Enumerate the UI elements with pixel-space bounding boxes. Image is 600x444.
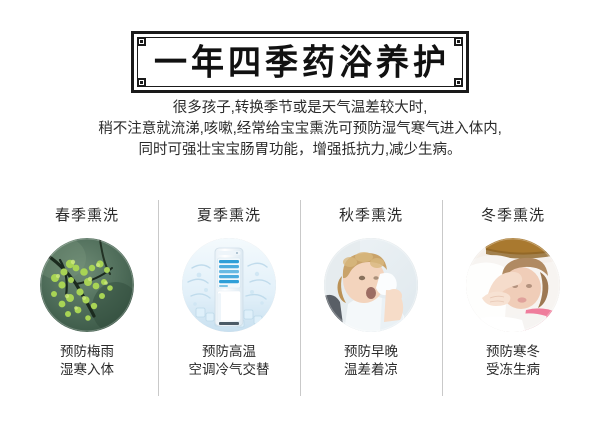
- frame-corner-bottom-left-icon: [137, 78, 146, 87]
- frame-corner-top-right-icon: [454, 37, 463, 46]
- season-caption-summer-line-1: 预防高温: [189, 343, 270, 361]
- season-caption-autumn-line-2: 温差着凉: [344, 361, 398, 379]
- frame-corner-bottom-right-icon: [454, 78, 463, 87]
- season-title-spring: 春季熏洗: [55, 204, 119, 225]
- intro-line-2: 稍不注意就流涕,咳嗽,经常给宝宝熏洗可预防湿气寒气进入体内,: [0, 119, 600, 140]
- intro-line-3: 同时可强壮宝宝肠胃功能，增强抵抗力,减少生病。: [0, 140, 600, 161]
- season-column-winter: 冬季熏洗: [442, 196, 584, 396]
- title-banner: 一年四季药浴养护: [131, 31, 469, 93]
- season-caption-winter-line-2: 受冻生病: [486, 361, 540, 379]
- winter-sick-child-in-bed-photo: [466, 238, 560, 332]
- season-caption-autumn-line-1: 预防早晚: [344, 343, 398, 361]
- season-title-winter: 冬季熏洗: [481, 204, 545, 225]
- season-caption-spring-line-1: 预防梅雨: [60, 343, 114, 361]
- season-caption-spring: 预防梅雨 湿寒入体: [60, 343, 114, 379]
- seasons-grid: 春季熏洗: [16, 196, 584, 396]
- intro-paragraph: 很多孩子,转换季节或是天气温差较大时, 稍不注意就流涕,咳嗽,经常给宝宝熏洗可预…: [0, 98, 600, 161]
- intro-line-1: 很多孩子,转换季节或是天气温差较大时,: [0, 98, 600, 119]
- season-caption-winter-line-1: 预防寒冬: [486, 343, 540, 361]
- season-column-summer: 夏季熏洗: [158, 196, 300, 396]
- autumn-toddler-wiping-nose-photo: [324, 238, 418, 332]
- season-caption-winter: 预防寒冬 受冻生病: [486, 343, 540, 379]
- season-title-autumn: 秋季熏洗: [339, 204, 403, 225]
- frame-corner-top-left-icon: [137, 37, 146, 46]
- season-caption-summer: 预防高温 空调冷气交替: [189, 343, 270, 379]
- poster-root: 一年四季药浴养护 很多孩子,转换季节或是天气温差较大时, 稍不注意就流涕,咳嗽,…: [0, 0, 600, 444]
- season-caption-autumn: 预防早晚 温差着凉: [344, 343, 398, 379]
- season-column-spring: 春季熏洗: [16, 196, 158, 396]
- season-caption-summer-line-2: 空调冷气交替: [189, 361, 270, 379]
- spring-green-leaves-photo: [40, 238, 134, 332]
- season-caption-spring-line-2: 湿寒入体: [60, 361, 114, 379]
- season-column-autumn: 秋季熏洗: [300, 196, 442, 396]
- season-title-summer: 夏季熏洗: [197, 204, 261, 225]
- title-banner-inner-frame: 一年四季药浴养护: [137, 37, 463, 87]
- summer-air-conditioner-photo: [182, 238, 276, 332]
- page-title: 一年四季药浴养护: [150, 45, 450, 80]
